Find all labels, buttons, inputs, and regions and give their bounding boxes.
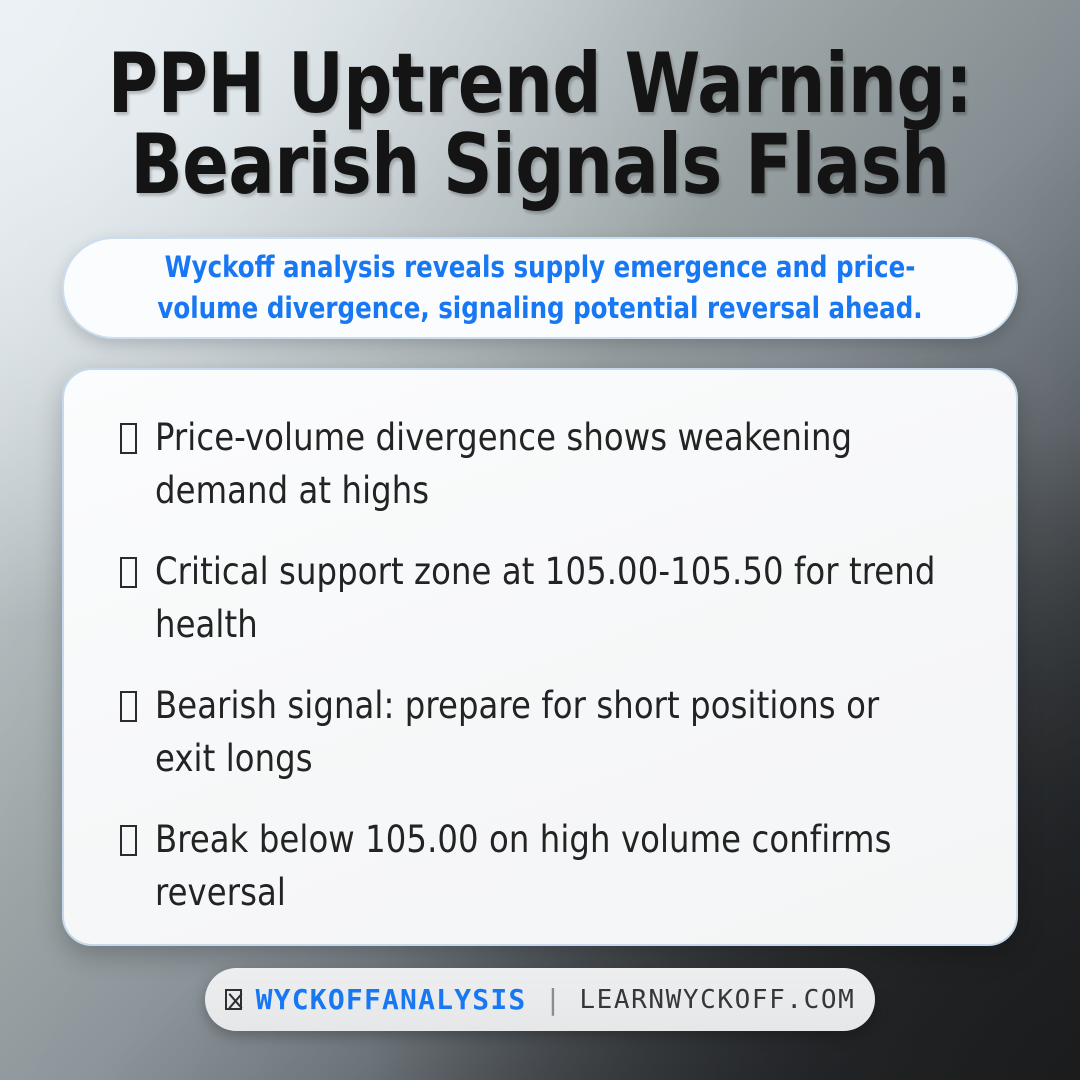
- list-item: Bearish signal: prepare for short positi…: [120, 680, 970, 785]
- website-url: LEARNWYCKOFF.COM: [579, 985, 855, 1015]
- subtitle-text: Wyckoff analysis reveals supply emergenc…: [121, 247, 959, 329]
- footer-separator: |: [540, 983, 565, 1016]
- page-title-line-2: Bearish Signals Flash: [98, 125, 981, 206]
- list-item-label: Break below 105.00 on high volume confir…: [155, 814, 946, 919]
- missing-glyph-box-icon: [120, 557, 137, 588]
- key-points-card: Price-volume divergence shows weakening …: [62, 368, 1018, 946]
- subtitle-card: Wyckoff analysis reveals supply emergenc…: [62, 237, 1018, 339]
- page-title: PPH Uptrend Warning: Bearish Signals Fla…: [98, 44, 981, 205]
- list-item-label: Price-volume divergence shows weakening …: [155, 412, 946, 517]
- list-item: Critical support zone at 105.00-105.50 f…: [120, 546, 970, 651]
- page-title-line-1: PPH Uptrend Warning:: [98, 44, 981, 125]
- list-item-label: Critical support zone at 105.00-105.50 f…: [155, 546, 946, 651]
- missing-glyph-box-icon: [120, 691, 137, 722]
- list-item-label: Bearish signal: prepare for short positi…: [155, 680, 946, 785]
- notdef-boxed-x-icon: [225, 989, 242, 1010]
- social-handle: WYCKOFFANALYSIS: [256, 983, 527, 1016]
- list-item: Break below 105.00 on high volume confir…: [120, 814, 970, 919]
- poster-stage: PPH Uptrend Warning: Bearish Signals Fla…: [0, 0, 1080, 1080]
- missing-glyph-box-icon: [120, 423, 137, 454]
- footer-branding-bar: WYCKOFFANALYSIS | LEARNWYCKOFF.COM: [205, 968, 875, 1031]
- list-item: Price-volume divergence shows weakening …: [120, 412, 970, 517]
- missing-glyph-box-icon: [120, 825, 137, 856]
